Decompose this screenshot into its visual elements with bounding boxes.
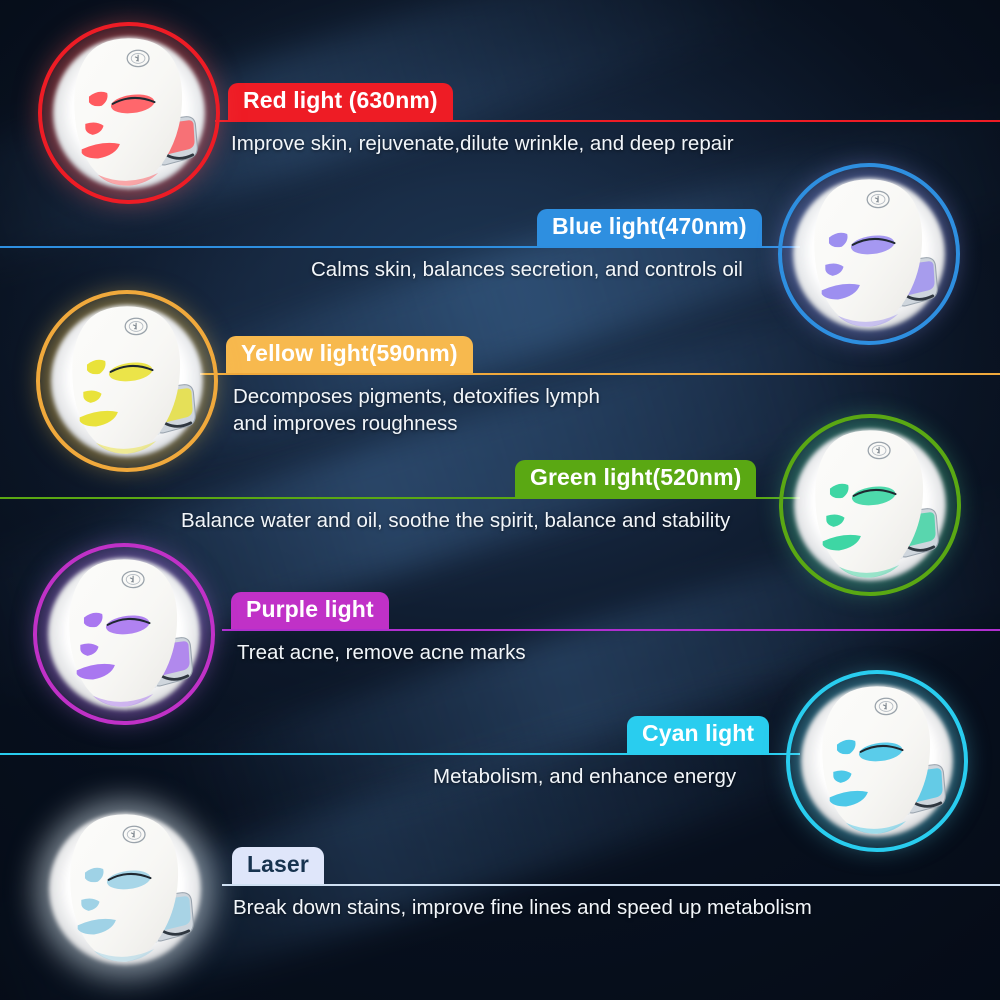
badge-yellow[interactable]: Yellow light(590nm) [226, 336, 473, 373]
description-blue: Calms skin, balances secretion, and cont… [311, 256, 743, 283]
badge-laser[interactable]: Laser [232, 847, 324, 884]
divider-red [215, 120, 1000, 122]
mask-ring [778, 163, 960, 345]
badge-cyan[interactable]: Cyan light [627, 716, 769, 753]
description-yellow: Decomposes pigments, detoxifies lymph an… [233, 383, 600, 437]
badge-purple[interactable]: Purple light [231, 592, 389, 629]
badge-red[interactable]: Red light (630nm) [228, 83, 453, 120]
mask-ring [786, 670, 968, 852]
mask-circle-laser [34, 798, 216, 980]
description-cyan: Metabolism, and enhance energy [433, 763, 736, 790]
mask-circle-green [779, 414, 961, 596]
description-purple: Treat acne, remove acne marks [237, 639, 526, 666]
mask-circle-red [38, 22, 220, 204]
divider-green [0, 497, 800, 499]
mask-ring [779, 414, 961, 596]
mask-circle-blue [778, 163, 960, 345]
divider-cyan [0, 753, 800, 755]
description-red: Improve skin, rejuvenate,dilute wrinkle,… [231, 130, 734, 157]
badge-blue[interactable]: Blue light(470nm) [537, 209, 762, 246]
mask-ring [33, 543, 215, 725]
badge-green[interactable]: Green light(520nm) [515, 460, 756, 497]
mask-circle-purple [33, 543, 215, 725]
divider-blue [0, 246, 800, 248]
mask-ring [38, 22, 220, 204]
mask-circle-cyan [786, 670, 968, 852]
description-laser: Break down stains, improve fine lines an… [233, 894, 812, 921]
divider-purple [222, 629, 1000, 631]
description-green: Balance water and oil, soothe the spirit… [181, 507, 730, 534]
divider-laser [222, 884, 1000, 886]
mask-circle-yellow [36, 290, 218, 472]
mask-image-laser [34, 798, 216, 980]
divider-yellow [200, 373, 1000, 375]
mask-ring [36, 290, 218, 472]
